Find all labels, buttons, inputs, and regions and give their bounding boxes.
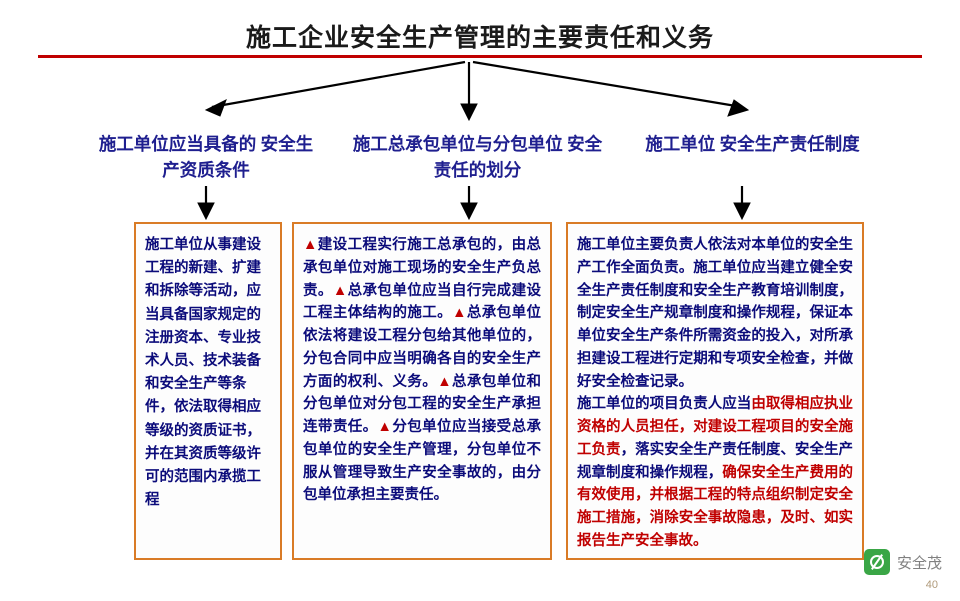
content-box-responsibility-system-text: 施工单位主要负责人依法对本单位的安全生产工作全面负责。施工单位应当建立健全安全生… [577, 234, 853, 553]
heading-qualification: 施工单位应当具备的 安全生产资质条件 [96, 131, 316, 184]
slide-canvas: 施工企业安全生产管理的主要责任和义务 施工单位应当具备的 安全生产资质条件 施工… [0, 0, 960, 601]
title-divider [38, 55, 922, 58]
content-box-qualification-text: 施工单位从事建设工程的新建、扩建和拆除等活动，应当具备国家规定的注册资本、专业技… [145, 234, 271, 512]
content-box-responsibility-split-text: ▲建设工程实行施工总承包的，由总承包单位对施工现场的安全生产负总责。▲总承包单位… [303, 234, 541, 507]
page-title-wrap: 施工企业安全生产管理的主要责任和义务 [0, 18, 960, 54]
watermark-label: 安全茂 [897, 552, 942, 573]
heading-responsibility-split: 施工总承包单位与分包单位 安全责任的划分 [345, 131, 610, 184]
page-number: 40 [926, 579, 938, 591]
content-box-responsibility-split: ▲建设工程实行施工总承包的，由总承包单位对施工现场的安全生产负总责。▲总承包单位… [292, 222, 552, 560]
content-box-qualification: 施工单位从事建设工程的新建、扩建和拆除等活动，应当具备国家规定的注册资本、专业技… [134, 222, 282, 560]
watermark-badge: 安全茂 [864, 549, 942, 575]
heading-responsibility-system: 施工单位 安全生产责任制度 [640, 131, 865, 157]
content-box-responsibility-system: 施工单位主要负责人依法对本单位的安全生产工作全面负责。施工单位应当建立健全安全生… [566, 222, 864, 560]
safety-shield-icon [864, 549, 890, 575]
page-title: 施工企业安全生产管理的主要责任和义务 [246, 25, 714, 52]
